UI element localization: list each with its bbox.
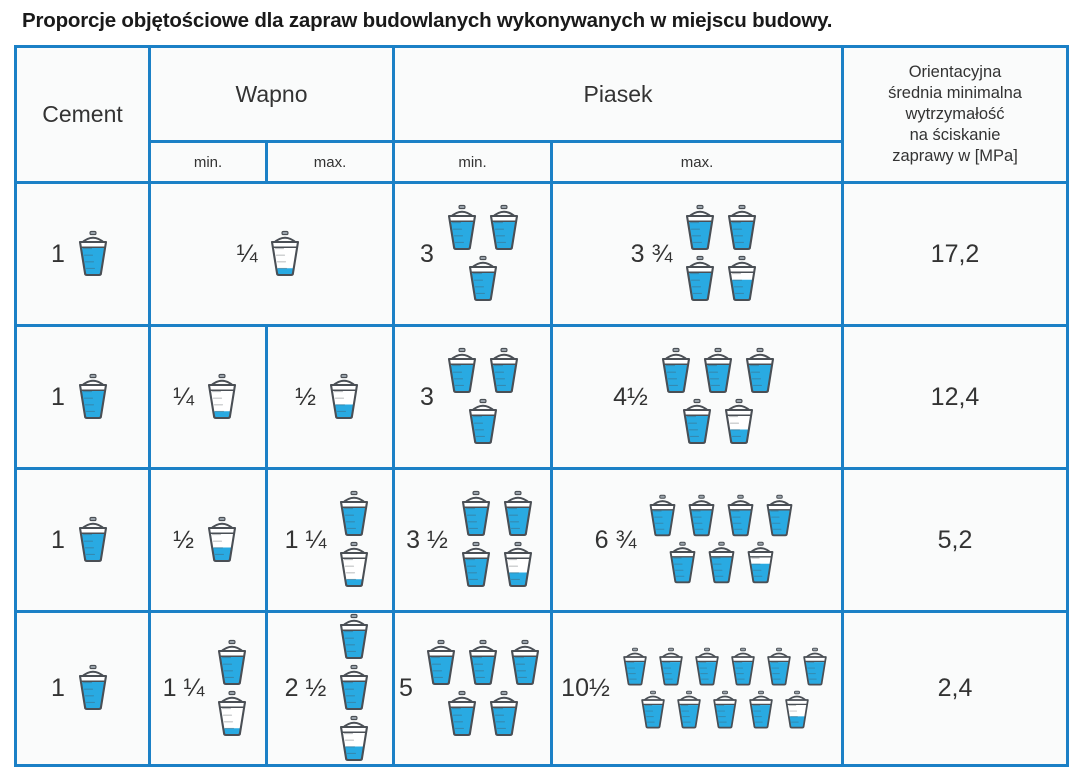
cell-piasek-max: 3 ¾ xyxy=(552,183,843,326)
cell-piasek-max: 10½ xyxy=(552,612,843,766)
wapno-min-measure: ½ xyxy=(151,470,265,610)
wapno-max-measure: ½ xyxy=(268,327,392,467)
piasek-max-measure: 4½ xyxy=(553,327,841,467)
amount-label: 3 ½ xyxy=(406,528,448,553)
header-wapno-min: min. xyxy=(150,142,267,183)
bucket-group xyxy=(323,373,365,422)
cell-cement: 1 xyxy=(16,183,150,326)
amount-label: 1 ¼ xyxy=(163,676,205,701)
cell-strength: 12,4 xyxy=(843,326,1068,469)
amount-label: ¼ xyxy=(237,242,258,267)
wapno-max-measure: 2 ½ xyxy=(268,613,392,764)
header-wapno: Wapno xyxy=(150,47,394,142)
amount-label: 1 xyxy=(51,385,65,410)
piasek-min-measure: 3 xyxy=(395,327,550,467)
table-row: 1 ¼ 3 xyxy=(16,183,1068,326)
amount-label: 3 xyxy=(420,242,434,267)
bucket-group xyxy=(655,347,781,447)
wapno-min-measure: 1 ¼ xyxy=(151,613,265,764)
amount-label: 4½ xyxy=(613,385,648,410)
bucket-group xyxy=(333,490,375,590)
cement-measure: 1 xyxy=(17,184,148,324)
bucket-group xyxy=(72,664,114,713)
cell-strength: 2,4 xyxy=(843,612,1068,766)
cell-piasek-min: 3 ½ xyxy=(394,469,552,612)
cell-cement: 1 xyxy=(16,469,150,612)
cell-cement: 1 xyxy=(16,326,150,469)
header-strength-line-4: na ściskanie xyxy=(844,125,1066,146)
table-body: 1 ¼ 3 xyxy=(16,183,1068,766)
bucket-group xyxy=(72,373,114,422)
bucket-group xyxy=(201,516,243,565)
cell-wapno-max: 1 ¼ xyxy=(267,469,394,612)
page-title: Proporcje objętościowe dla zapraw budowl… xyxy=(0,0,1080,33)
cell-piasek-min: 5 xyxy=(394,612,552,766)
amount-label: 1 xyxy=(51,242,65,267)
piasek-min-measure: 3 xyxy=(395,184,550,324)
cell-wapno-min: ¼ xyxy=(150,326,267,469)
cell-wapno-min: ½ xyxy=(150,469,267,612)
bucket-group xyxy=(72,516,114,565)
amount-label: 3 ¾ xyxy=(631,242,673,267)
cell-wapno-max: ½ xyxy=(267,326,394,469)
header-piasek-min: min. xyxy=(394,142,552,183)
wapno-measure: ¼ xyxy=(151,184,392,324)
header-strength-line-2: średnia minimalna xyxy=(844,83,1066,104)
piasek-max-measure: 6 ¾ xyxy=(553,470,841,610)
cell-wapno-merged: ¼ xyxy=(150,183,394,326)
bucket-group xyxy=(617,647,833,731)
bucket-group xyxy=(333,613,375,764)
piasek-max-measure: 10½ xyxy=(553,613,841,764)
header-cement: Cement xyxy=(16,47,150,183)
cement-measure: 1 xyxy=(17,613,148,764)
piasek-min-measure: 3 ½ xyxy=(395,470,550,610)
bucket-group xyxy=(643,494,799,586)
proportions-table: Cement Wapno Piasek Orientacyjna średnia… xyxy=(14,45,1069,767)
amount-label: ½ xyxy=(295,385,316,410)
amount-label: 1 xyxy=(51,528,65,553)
cell-piasek-max: 4½ xyxy=(552,326,843,469)
amount-label: 1 ¼ xyxy=(285,528,327,553)
bucket-group xyxy=(420,639,546,739)
table-row: 1 ¼ ½ 3 xyxy=(16,326,1068,469)
amount-label: 6 ¾ xyxy=(595,528,637,553)
bucket-group xyxy=(441,204,525,304)
bucket-group xyxy=(264,230,306,279)
cement-measure: 1 xyxy=(17,327,148,467)
header-strength: Orientacyjna średnia minimalna wytrzymał… xyxy=(843,47,1068,183)
bucket-group xyxy=(679,204,763,304)
piasek-max-measure: 3 ¾ xyxy=(553,184,841,324)
amount-label: 10½ xyxy=(561,676,610,701)
cell-piasek-min: 3 xyxy=(394,326,552,469)
table-row: 1 ½ 1 ¼ xyxy=(16,469,1068,612)
header-piasek: Piasek xyxy=(394,47,843,142)
amount-label: 5 xyxy=(399,676,413,701)
cell-strength: 17,2 xyxy=(843,183,1068,326)
wapno-max-measure: 1 ¼ xyxy=(268,470,392,610)
header-strength-line-5: zaprawy w [MPa] xyxy=(844,146,1066,167)
header-wapno-max: max. xyxy=(267,142,394,183)
header-piasek-max: max. xyxy=(552,142,843,183)
header-strength-line-3: wytrzymałość xyxy=(844,104,1066,125)
cell-cement: 1 xyxy=(16,612,150,766)
cell-strength: 5,2 xyxy=(843,469,1068,612)
table-header: Cement Wapno Piasek Orientacyjna średnia… xyxy=(16,47,1068,183)
bucket-group xyxy=(441,347,525,447)
bucket-group xyxy=(211,639,253,739)
wapno-min-measure: ¼ xyxy=(151,327,265,467)
page-root: Proporcje objętościowe dla zapraw budowl… xyxy=(0,0,1080,744)
amount-label: ¼ xyxy=(173,385,194,410)
bucket-group xyxy=(201,373,243,422)
bucket-group xyxy=(455,490,539,590)
piasek-min-measure: 5 xyxy=(395,613,550,764)
bucket-group xyxy=(72,230,114,279)
table-row: 1 1 ¼ 2 ½ xyxy=(16,612,1068,766)
header-row-top: Cement Wapno Piasek Orientacyjna średnia… xyxy=(16,47,1068,142)
cell-wapno-min: 1 ¼ xyxy=(150,612,267,766)
amount-label: 3 xyxy=(420,385,434,410)
header-strength-line-1: Orientacyjna xyxy=(844,62,1066,83)
amount-label: 1 xyxy=(51,676,65,701)
amount-label: ½ xyxy=(173,528,194,553)
cell-piasek-max: 6 ¾ xyxy=(552,469,843,612)
cell-piasek-min: 3 xyxy=(394,183,552,326)
amount-label: 2 ½ xyxy=(285,676,327,701)
cell-wapno-max: 2 ½ xyxy=(267,612,394,766)
cement-measure: 1 xyxy=(17,470,148,610)
